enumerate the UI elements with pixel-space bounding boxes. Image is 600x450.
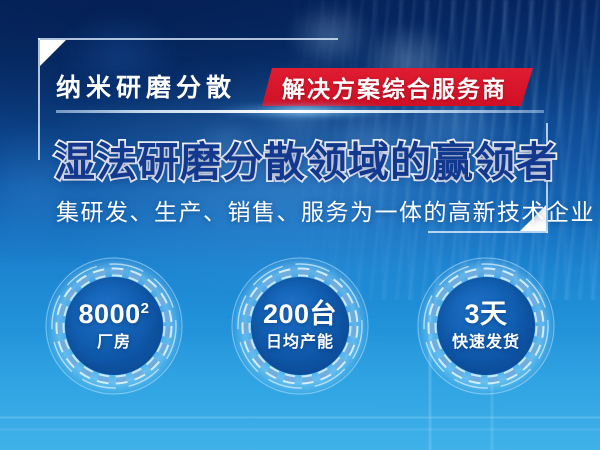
subtitle-text: 集研发、生产、销售、服务为一体的高新技术企业 <box>56 193 552 227</box>
badge-label: 日均产能 <box>263 335 337 351</box>
badge-label: 厂房 <box>79 335 150 351</box>
badge-value-number: 8000 <box>79 299 141 329</box>
stat-badge: 200台 日均产能 <box>226 252 374 400</box>
badge-text-block: 80002 厂房 <box>79 301 150 351</box>
divider-line <box>56 110 544 113</box>
badge-label: 快速发货 <box>452 335 520 351</box>
badge-value-superscript: 2 <box>141 300 150 317</box>
badge-text-block: 3天 快速发货 <box>452 301 520 351</box>
headline-text: 湿法研磨分散领域的赢领者 <box>54 128 554 188</box>
stat-badge-group: 80002 厂房 200台 日均产能 <box>0 252 600 400</box>
ribbon-label: 解决方案综合服务商 <box>282 70 507 104</box>
badge-value: 80002 <box>79 301 150 328</box>
promo-banner: 纳米研磨分散 解决方案综合服务商 湿法研磨分散领域的赢领者 集研发、生产、销售、… <box>0 0 600 450</box>
badge-value: 200台 <box>263 301 337 328</box>
badge-value-number: 3天 <box>464 299 507 329</box>
stat-badge: 3天 快速发货 <box>412 252 560 400</box>
stat-badge: 80002 厂房 <box>40 252 188 400</box>
badge-value-number: 200台 <box>263 299 337 329</box>
badge-value: 3天 <box>452 301 520 328</box>
lead-title-text: 纳米研磨分散 <box>56 68 236 104</box>
badge-text-block: 200台 日均产能 <box>263 301 337 351</box>
